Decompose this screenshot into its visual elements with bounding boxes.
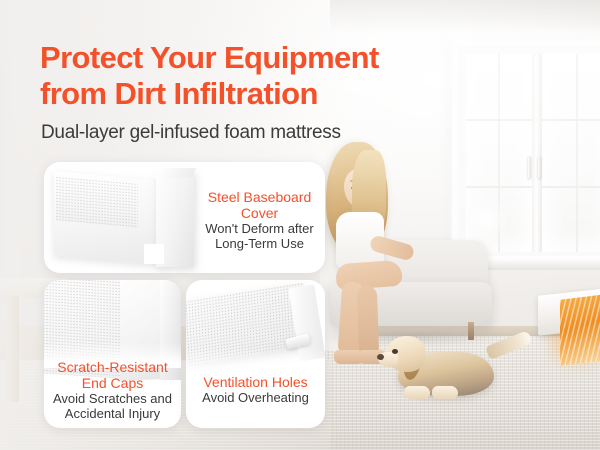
dog-paw-front-left [404, 386, 430, 399]
dog-paw-front-right [432, 386, 458, 399]
window-light-bloom [464, 196, 510, 242]
woman-shin-right [357, 286, 379, 357]
banner-stage: Protect Your Equipment from Dirt Infiltr… [0, 0, 600, 450]
headline-line-2: from Dirt Infiltration [40, 76, 460, 112]
window-handle-left [528, 156, 531, 178]
dog-nose [377, 354, 384, 360]
feature-card-scratch-resistant-end-caps[interactable]: Scratch-Resistant End Caps Avoid Scratch… [44, 280, 181, 428]
card-3-text-block: Ventilation Holes Avoid Overheating [186, 375, 325, 406]
card-3-title: Ventilation Holes [186, 375, 325, 391]
window-frame [452, 40, 600, 262]
dog-eye [392, 349, 398, 354]
card-2-title: Scratch-Resistant End Caps [44, 360, 181, 391]
card-1-text-block: Steel Baseboard Cover Won't Deform after… [44, 190, 325, 252]
window-mullion-h-right-2 [542, 186, 600, 188]
window-mullion-h-left-2 [466, 186, 532, 188]
card-3-subtitle: Avoid Overheating [186, 391, 325, 406]
feature-card-steel-baseboard-cover[interactable]: Steel Baseboard Cover Won't Deform after… [44, 162, 325, 273]
headline-line-1: Protect Your Equipment [40, 40, 379, 75]
window-center-post [532, 54, 542, 252]
window-mullion-h-left-1 [466, 119, 532, 121]
window-mullion-vertical-right [576, 54, 578, 252]
card-1-title: Steel Baseboard Cover [194, 190, 325, 221]
ceiling-shadow [330, 0, 600, 34]
window-mullion-h-right-1 [542, 119, 600, 121]
page-title: Protect Your Equipment from Dirt Infiltr… [40, 40, 460, 112]
feature-card-ventilation-holes[interactable]: Ventilation Holes Avoid Overheating [186, 280, 325, 428]
card-2-text-block: Scratch-Resistant End Caps Avoid Scratch… [44, 360, 181, 422]
window-handle-right [538, 156, 541, 178]
card-1-subtitle: Won't Deform after Long-Term Use [194, 222, 325, 252]
heater-warm-glow [560, 292, 600, 366]
card-2-subtitle: Avoid Scratches and Accidental Injury [44, 392, 181, 422]
cover-end-cap-top-face [154, 168, 196, 178]
side-table-leg-left [6, 296, 19, 402]
window-pane-right [542, 54, 600, 252]
page-subtitle: Dual-layer gel-infused foam mattress [41, 122, 441, 144]
